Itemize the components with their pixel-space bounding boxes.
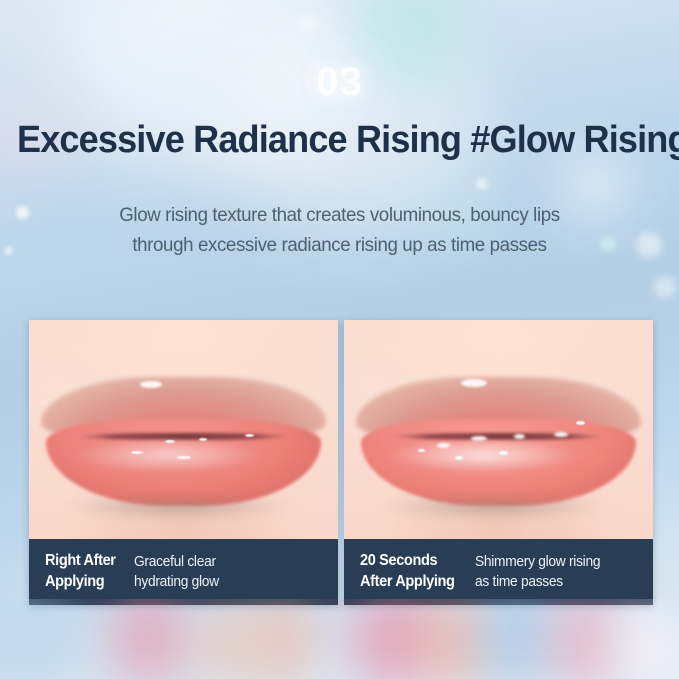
step-number: 03 — [0, 62, 679, 102]
blur-smear-pink-1 — [110, 599, 188, 679]
caption-description-right-line-1: Shimmery glow rising — [475, 552, 600, 572]
lower-lip-sheen — [387, 438, 579, 473]
page-title: Excessive Radiance Rising #Glow Rising — [17, 120, 662, 161]
subtitle-line-2: through excessive radiance rising up as … — [14, 230, 666, 260]
caption-description-left-line-2: hydrating glow — [134, 572, 219, 592]
caption-description-left-line-1: Graceful clear — [134, 552, 219, 572]
caption-timing-right-line-2: After Applying — [360, 572, 455, 593]
bokeh-dot-left-mid — [4, 246, 13, 255]
bokeh-dot-center-upper — [476, 178, 488, 190]
lips-right-after-applying-photo — [29, 320, 338, 539]
shimmer-highlight-a — [437, 443, 450, 448]
product-detail-slide: 03 Excessive Radiance Rising #Glow Risin… — [0, 0, 679, 679]
bottom-blurred-product-strip — [0, 599, 679, 679]
shimmer-highlight-b — [471, 436, 487, 441]
lower-lip-sheen — [72, 438, 264, 473]
comparison-panel-left: Right After Applying Graceful clear hydr… — [29, 320, 338, 605]
shimmer-highlight-h — [576, 421, 585, 425]
caption-bar-right: 20 Seconds After Applying Shimmery glow … — [344, 539, 653, 605]
comparison-panel-right: 20 Seconds After Applying Shimmery glow … — [344, 320, 653, 605]
shimmer-highlight-e — [455, 456, 463, 460]
comparison-panels: Right After Applying Graceful clear hydr… — [29, 320, 653, 605]
lips-20-seconds-after-applying-photo — [344, 320, 653, 539]
caption-description-right-line-2: as time passes — [475, 572, 600, 592]
shimmer-highlight-d — [554, 432, 568, 437]
caption-description-left: Graceful clear hydrating glow — [134, 552, 219, 592]
caption-timing-left: Right After Applying — [45, 551, 116, 593]
bokeh-dot-right-c — [654, 276, 676, 298]
blur-smear-white-right — [614, 605, 679, 679]
gloss-highlight-d — [245, 434, 254, 437]
subtitle-line-1: Glow rising texture that creates volumin… — [14, 200, 666, 230]
blur-smear-blue-left — [0, 599, 80, 679]
page-subtitle: Glow rising texture that creates volumin… — [14, 200, 666, 260]
caption-timing-right: 20 Seconds After Applying — [360, 551, 455, 593]
blur-smear-peach-1 — [196, 601, 262, 679]
caption-timing-left-line-1: Right After — [45, 551, 116, 572]
blur-smear-peach-2 — [256, 599, 316, 679]
gloss-highlight-e — [177, 456, 191, 459]
caption-bar-left: Right After Applying Graceful clear hydr… — [29, 539, 338, 605]
bokeh-dot-top-mid — [300, 14, 318, 32]
caption-timing-left-line-2: Applying — [45, 572, 116, 593]
shimmer-highlight-c — [514, 434, 525, 439]
caption-description-right: Shimmery glow rising as time passes — [475, 552, 600, 592]
blur-smear-pink-3 — [548, 599, 622, 679]
caption-timing-right-line-1: 20 Seconds — [360, 551, 455, 572]
